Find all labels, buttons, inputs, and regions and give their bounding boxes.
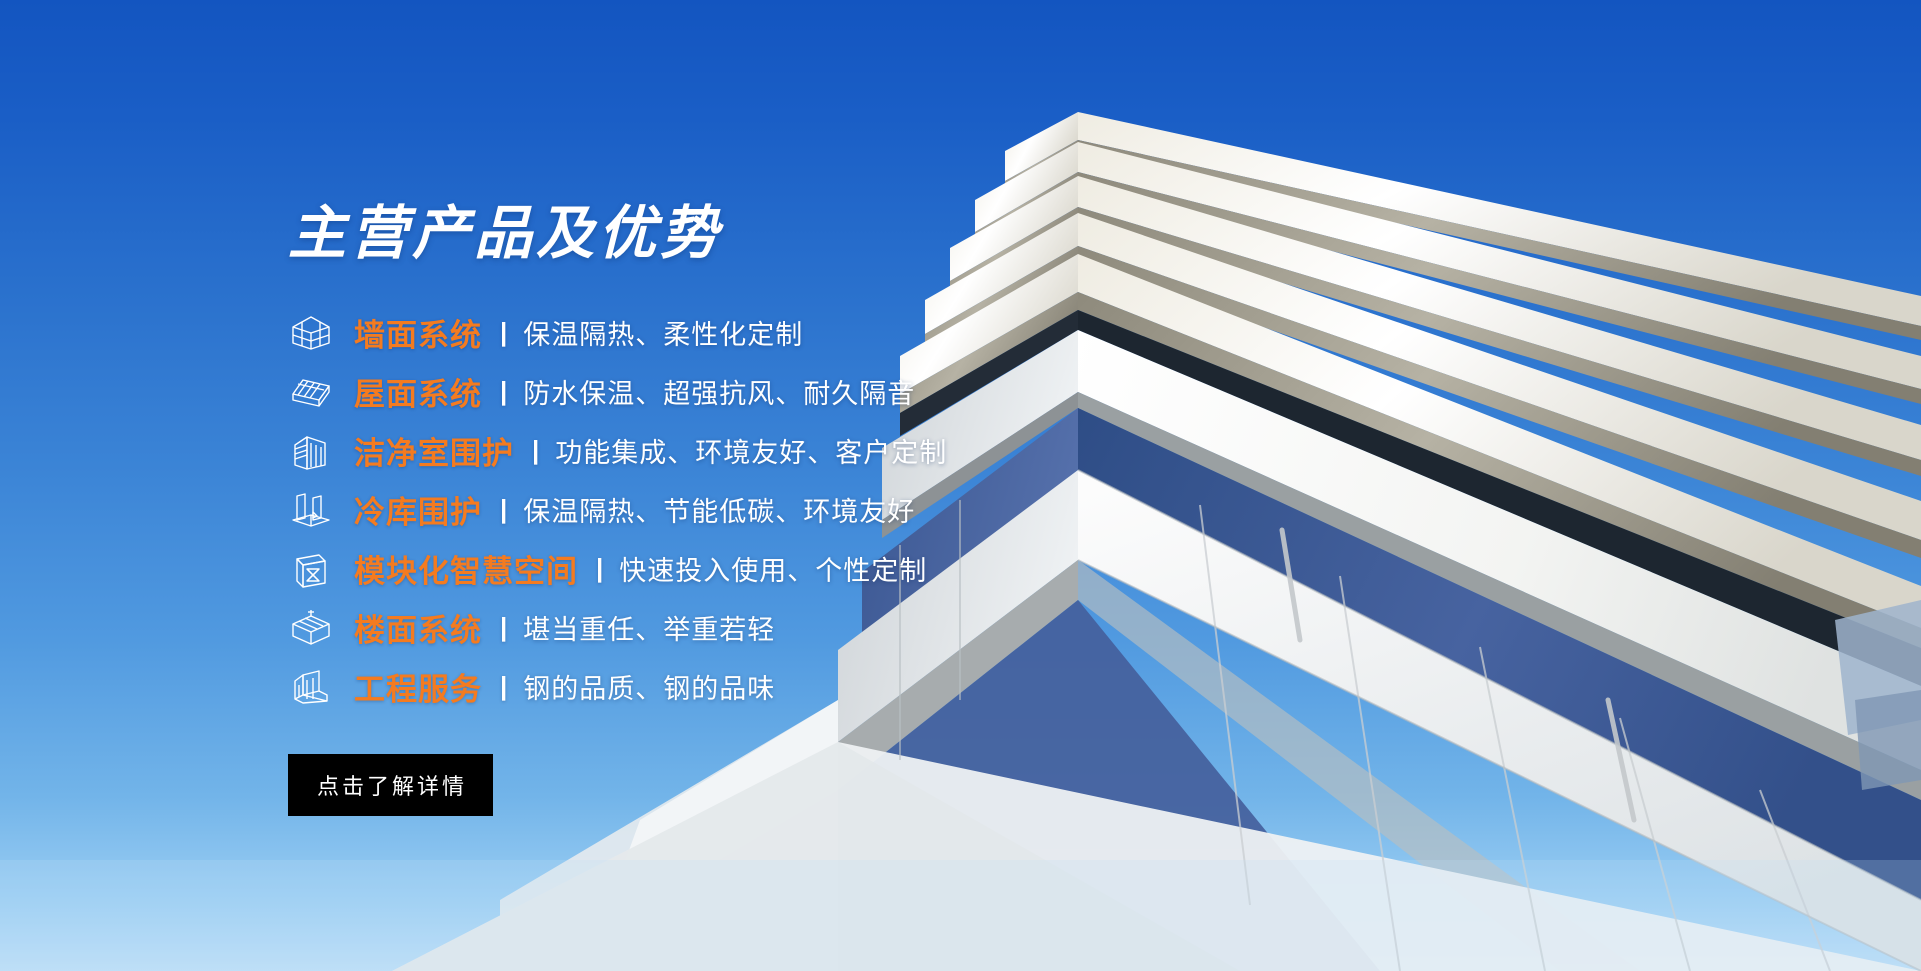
list-item[interactable]: 楼面系统 | 堪当重任、举重若轻 [288,598,1100,657]
feature-separator: | [596,553,603,584]
floor-deck-icon [288,605,334,651]
wall-panel-icon [288,310,334,356]
feature-separator: | [500,317,507,348]
banner-content: 主营产品及优势 墙面系统 | 保温隔热、柔性化定制 [0,0,1100,971]
list-item[interactable]: 屋面系统 | 防水保温、超强抗风、耐久隔音 [288,362,1100,421]
learn-more-button[interactable]: 点击了解详情 [288,754,493,816]
engineering-service-icon [288,664,334,710]
feature-name: 楼面系统 [354,605,482,650]
feature-description: 防水保温、超强抗风、耐久隔音 [523,372,915,411]
feature-name: 工程服务 [354,664,482,709]
feature-name: 模块化智慧空间 [354,546,578,591]
modular-cube-icon [288,546,334,592]
feature-description: 钢的品质、钢的品味 [523,667,775,706]
feature-description: 堪当重任、举重若轻 [523,608,775,647]
feature-list: 墙面系统 | 保温隔热、柔性化定制 屋面系统 [288,303,1100,716]
feature-separator: | [500,494,507,525]
list-item[interactable]: 冷库围护 | 保温隔热、节能低碳、环境友好 [288,480,1100,539]
feature-description: 快速投入使用、个性定制 [619,549,927,588]
cold-storage-icon [288,487,334,533]
list-item[interactable]: 墙面系统 | 保温隔热、柔性化定制 [288,303,1100,362]
feature-separator: | [532,435,539,466]
feature-description: 保温隔热、柔性化定制 [523,313,803,352]
list-item[interactable]: 工程服务 | 钢的品质、钢的品味 [288,657,1100,716]
cleanroom-building-icon [288,428,334,474]
feature-separator: | [500,612,507,643]
feature-separator: | [500,671,507,702]
feature-name: 冷库围护 [354,487,482,532]
product-advantages-banner: 主营产品及优势 墙面系统 | 保温隔热、柔性化定制 [0,0,1921,971]
list-item[interactable]: 洁净室围护 | 功能集成、环境友好、客户定制 [288,421,1100,480]
page-title: 主营产品及优势 [288,205,1100,263]
roof-panel-icon [288,369,334,415]
feature-separator: | [500,376,507,407]
feature-description: 保温隔热、节能低碳、环境友好 [523,490,915,529]
feature-name: 屋面系统 [354,369,482,414]
feature-description: 功能集成、环境友好、客户定制 [555,431,947,470]
feature-name: 墙面系统 [354,310,482,355]
list-item[interactable]: 模块化智慧空间 | 快速投入使用、个性定制 [288,539,1100,598]
feature-name: 洁净室围护 [354,428,514,473]
